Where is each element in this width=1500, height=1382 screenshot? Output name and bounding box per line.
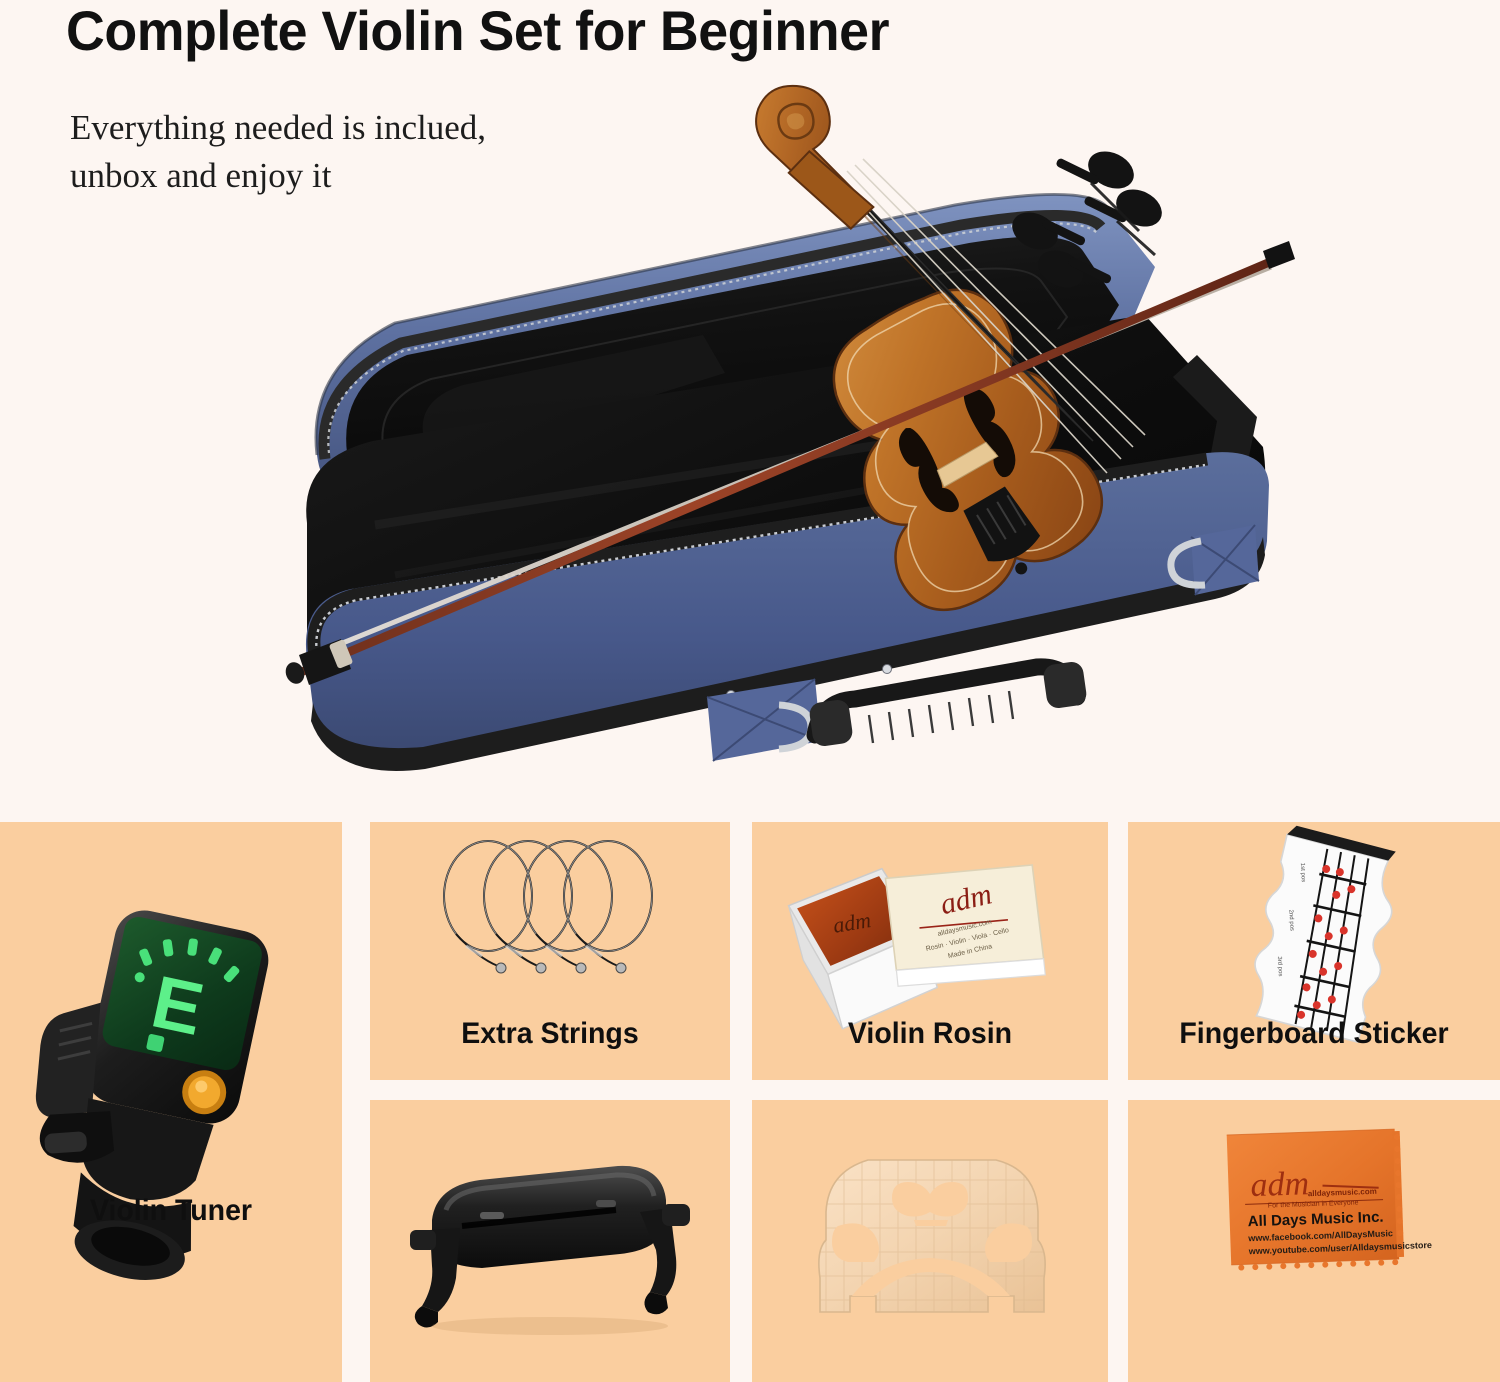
svg-text:3rd pos: 3rd pos: [1276, 956, 1283, 976]
page-title: Complete Violin Set for Beginner: [66, 0, 889, 63]
shoulder-rest-icon: [370, 1100, 730, 1382]
accessory-cell-strings[interactable]: Extra Strings: [370, 822, 730, 1080]
accessory-cell-shoulder-rest[interactable]: Shoulder Rest: [370, 1100, 730, 1382]
accessory-cell-bridge[interactable]: Extra Bridge: [752, 1100, 1108, 1382]
shoulder-rest-foot-left: [410, 1228, 460, 1328]
accessory-label-tuner: Violin Tuner: [9, 1194, 334, 1228]
violin-scroll: [754, 81, 875, 235]
accessory-label-rosin: Violin Rosin: [761, 1017, 1099, 1051]
shoulder-rest-foot-right: [640, 1204, 690, 1314]
violin-case-photo: [255, 55, 1325, 800]
cloth-logo: adm: [1250, 1165, 1310, 1204]
svg-text:2nd pos: 2nd pos: [1287, 909, 1294, 931]
svg-text:1st pos: 1st pos: [1299, 863, 1306, 883]
accessory-cell-fingerboard-sticker[interactable]: 1st pos 2nd pos 3rd pos Fingerboard Stic…: [1128, 822, 1500, 1080]
accessory-grid: E: [0, 822, 1500, 1382]
clip-on-tuner-icon: E: [0, 822, 342, 1382]
violin-bridge-icon: [752, 1100, 1108, 1382]
accessory-cell-rosin[interactable]: adm adm alldaysmusic.com Rosin · Violin …: [752, 822, 1108, 1080]
hero-banner: Complete Violin Set for Beginner Everyth…: [0, 0, 1500, 818]
accessory-label-strings: Extra Strings: [379, 1017, 721, 1051]
accessory-label-fingerboard-sticker: Fingerboard Sticker: [1137, 1017, 1490, 1051]
accessory-cell-polishing-cloth[interactable]: adm alldaysmusic.com For the Musician in…: [1128, 1100, 1500, 1382]
polishing-cloth-icon: adm alldaysmusic.com For the Musician in…: [1128, 1100, 1500, 1382]
accessory-cell-tuner[interactable]: E: [0, 822, 342, 1382]
